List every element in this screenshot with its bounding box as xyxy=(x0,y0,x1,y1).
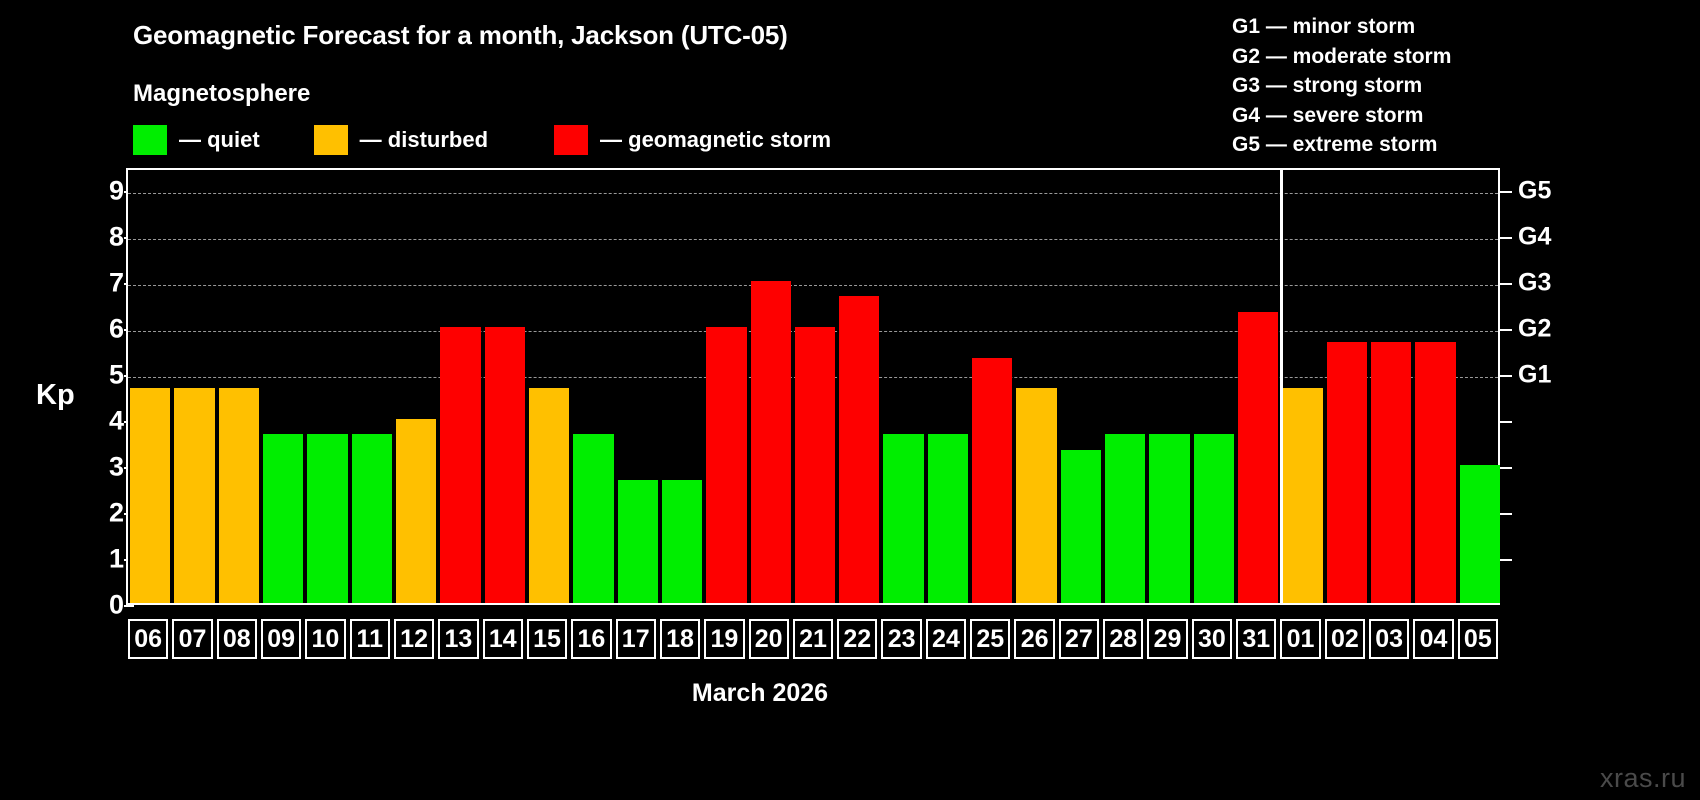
date-label-29: 29 xyxy=(1147,619,1187,659)
bar-20 xyxy=(751,281,791,603)
date-label-27: 27 xyxy=(1059,619,1099,659)
date-label-22: 22 xyxy=(837,619,877,659)
plot-inner xyxy=(128,170,1498,603)
bar-14 xyxy=(485,327,525,603)
bar-01 xyxy=(1282,388,1322,603)
bar-18 xyxy=(662,480,702,603)
bar-05 xyxy=(1460,465,1500,603)
y-tick-label-0: 0 xyxy=(84,590,124,621)
g-tick-label-g2: G2 xyxy=(1518,315,1551,344)
y-tick-label-1: 1 xyxy=(84,544,124,575)
g-scale-line-g2: G2 — moderate storm xyxy=(1232,42,1451,72)
g-axis-minor-tick-1 xyxy=(1500,559,1512,561)
bar-23 xyxy=(883,434,923,603)
bar-09 xyxy=(263,434,303,603)
x-axis-title: March 2026 xyxy=(0,679,1520,708)
date-label-15: 15 xyxy=(527,619,567,659)
date-label-19: 19 xyxy=(704,619,744,659)
date-label-13: 13 xyxy=(438,619,478,659)
g-tick-label-g1: G1 xyxy=(1518,361,1551,390)
y-axis-title: Kp xyxy=(36,379,75,412)
bar-16 xyxy=(573,434,613,603)
bar-22 xyxy=(839,296,879,603)
magnetosphere-legend: — quiet — disturbed — geomagnetic storm xyxy=(133,124,831,156)
y-tick-label-5: 5 xyxy=(84,360,124,391)
date-label-25: 25 xyxy=(970,619,1010,659)
storm-swatch-icon xyxy=(554,125,588,155)
date-label-23: 23 xyxy=(881,619,921,659)
g-scale-line-g5: G5 — extreme storm xyxy=(1232,130,1451,160)
y-tick-label-3: 3 xyxy=(84,452,124,483)
date-label-11: 11 xyxy=(350,619,390,659)
y-tick-label-6: 6 xyxy=(84,314,124,345)
g-axis-minor-tick-4 xyxy=(1500,421,1512,423)
bar-24 xyxy=(928,434,968,603)
bar-27 xyxy=(1061,450,1101,603)
g-tick-label-g5: G5 xyxy=(1518,177,1551,206)
g-axis: G1G2G3G4G5 xyxy=(1500,168,1580,605)
forecast-separator-line xyxy=(1280,170,1283,603)
date-label-18: 18 xyxy=(660,619,700,659)
g-tick-label-g3: G3 xyxy=(1518,269,1551,298)
bar-03 xyxy=(1371,342,1411,603)
g-tick-mark-g4 xyxy=(1500,237,1512,239)
y-tick-label-2: 2 xyxy=(84,498,124,529)
bar-15 xyxy=(529,388,569,603)
bar-31 xyxy=(1238,312,1278,603)
legend-label-storm: — geomagnetic storm xyxy=(600,127,831,153)
date-label-14: 14 xyxy=(483,619,523,659)
y-tick-label-4: 4 xyxy=(84,406,124,437)
bar-21 xyxy=(795,327,835,603)
legend-item-disturbed: — disturbed xyxy=(314,124,488,156)
plot-area xyxy=(126,168,1500,605)
bar-04 xyxy=(1415,342,1455,603)
y-tick-label-8: 8 xyxy=(84,222,124,253)
y-tick-label-9: 9 xyxy=(84,176,124,207)
date-label-28: 28 xyxy=(1103,619,1143,659)
bar-10 xyxy=(307,434,347,603)
date-label-07: 07 xyxy=(172,619,212,659)
legend-label-quiet: — quiet xyxy=(179,127,260,153)
g-scale-line-g1: G1 — minor storm xyxy=(1232,12,1451,42)
date-label-21: 21 xyxy=(793,619,833,659)
date-label-09: 09 xyxy=(261,619,301,659)
date-label-03: 03 xyxy=(1369,619,1409,659)
g-tick-mark-g5 xyxy=(1500,191,1512,193)
legend-item-quiet: — quiet xyxy=(133,124,260,156)
g-scale-line-g4: G4 — severe storm xyxy=(1232,101,1451,131)
date-label-06: 06 xyxy=(128,619,168,659)
g-axis-minor-tick-3 xyxy=(1500,467,1512,469)
g-scale-legend: G1 — minor storm G2 — moderate storm G3 … xyxy=(1232,12,1451,160)
date-label-30: 30 xyxy=(1192,619,1232,659)
date-label-04: 04 xyxy=(1413,619,1453,659)
bar-08 xyxy=(219,388,259,603)
g-scale-line-g3: G3 — strong storm xyxy=(1232,71,1451,101)
bar-13 xyxy=(440,327,480,603)
date-label-12: 12 xyxy=(394,619,434,659)
g-tick-mark-g3 xyxy=(1500,283,1512,285)
g-tick-mark-g2 xyxy=(1500,329,1512,331)
bar-29 xyxy=(1149,434,1189,603)
disturbed-swatch-icon xyxy=(314,125,348,155)
bar-25 xyxy=(972,358,1012,603)
date-label-26: 26 xyxy=(1014,619,1054,659)
date-label-08: 08 xyxy=(217,619,257,659)
date-label-17: 17 xyxy=(616,619,656,659)
bar-19 xyxy=(706,327,746,603)
date-label-24: 24 xyxy=(926,619,966,659)
legend-heading: Magnetosphere xyxy=(133,80,310,108)
bar-26 xyxy=(1016,388,1056,603)
bar-11 xyxy=(352,434,392,603)
y-tick-label-7: 7 xyxy=(84,268,124,299)
quiet-swatch-icon xyxy=(133,125,167,155)
y-tick-mark-0 xyxy=(124,605,134,607)
x-axis-date-labels: 0607080910111213141516171819202122232425… xyxy=(126,619,1500,659)
bar-17 xyxy=(618,480,658,603)
legend-label-disturbed: — disturbed xyxy=(360,127,488,153)
page-title: Geomagnetic Forecast for a month, Jackso… xyxy=(133,20,788,51)
g-tick-mark-g1 xyxy=(1500,375,1512,377)
bar-02 xyxy=(1327,342,1367,603)
g-axis-minor-tick-2 xyxy=(1500,513,1512,515)
g-tick-label-g4: G4 xyxy=(1518,223,1551,252)
bar-06 xyxy=(130,388,170,603)
date-label-05: 05 xyxy=(1458,619,1498,659)
bar-28 xyxy=(1105,434,1145,603)
date-label-16: 16 xyxy=(571,619,611,659)
date-label-10: 10 xyxy=(305,619,345,659)
watermark: xras.ru xyxy=(1600,763,1686,794)
bar-12 xyxy=(396,419,436,603)
bar-07 xyxy=(174,388,214,603)
bar-30 xyxy=(1194,434,1234,603)
legend-item-storm: — geomagnetic storm xyxy=(554,124,831,156)
date-label-01: 01 xyxy=(1280,619,1320,659)
date-label-02: 02 xyxy=(1325,619,1365,659)
date-label-20: 20 xyxy=(749,619,789,659)
bars-layer xyxy=(128,170,1498,603)
date-label-31: 31 xyxy=(1236,619,1276,659)
